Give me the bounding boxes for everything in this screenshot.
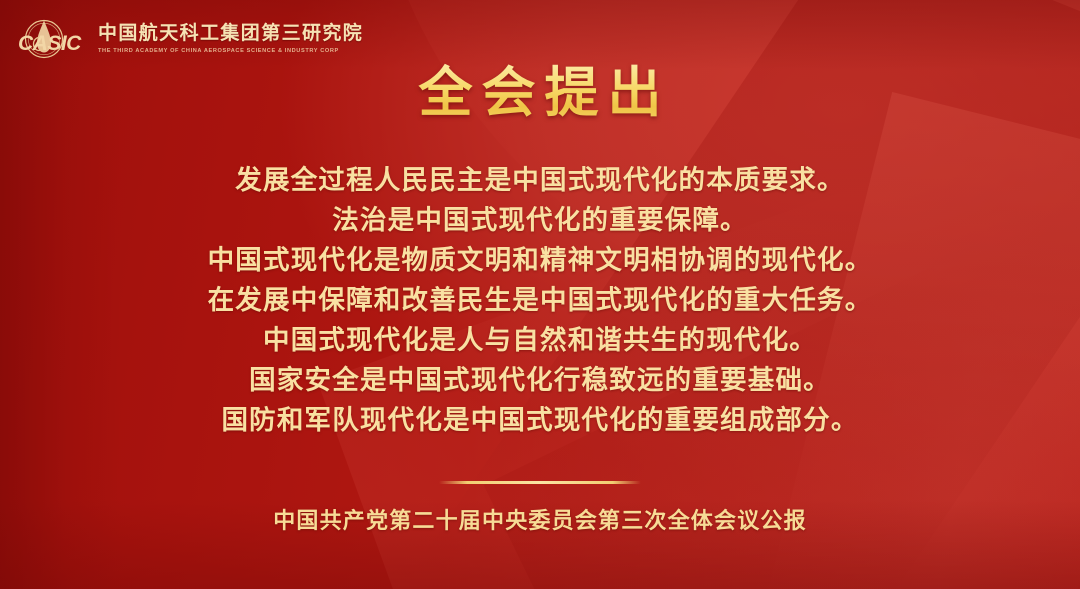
statement-line: 国家安全是中国式现代化行稳致远的重要基础。 <box>0 360 1080 400</box>
divider <box>439 481 641 484</box>
logo-name-cn: 中国航天科工集团第三研究院 <box>98 23 363 45</box>
statement-line: 中国式现代化是物质文明和精神文明相协调的现代化。 <box>0 240 1080 280</box>
statement-list: 发展全过程人民民主是中国式现代化的本质要求。 法治是中国式现代化的重要保障。 中… <box>0 160 1080 440</box>
organization-logo: CASIC 中国航天科工集团第三研究院 THE THIRD ACADEMY OF… <box>16 14 363 64</box>
casic-emblem-icon: CASIC <box>16 14 88 64</box>
slide-canvas: CASIC 中国航天科工集团第三研究院 THE THIRD ACADEMY OF… <box>0 0 1080 589</box>
source-caption: 中国共产党第二十届中央委员会第三次全体会议公报 <box>0 503 1080 535</box>
svg-text:CASIC: CASIC <box>18 32 82 55</box>
statement-line: 法治是中国式现代化的重要保障。 <box>0 200 1080 240</box>
statement-line: 中国式现代化是人与自然和谐共生的现代化。 <box>0 320 1080 360</box>
logo-name-en: THE THIRD ACADEMY OF CHINA AEROSPACE SCI… <box>98 48 363 55</box>
logo-text-block: 中国航天科工集团第三研究院 THE THIRD ACADEMY OF CHINA… <box>98 23 363 55</box>
page-title: 全会提出 <box>0 62 1080 124</box>
statement-line: 发展全过程人民民主是中国式现代化的本质要求。 <box>0 160 1080 200</box>
statement-line: 国防和军队现代化是中国式现代化的重要组成部分。 <box>0 400 1080 440</box>
statement-line: 在发展中保障和改善民生是中国式现代化的重大任务。 <box>0 280 1080 320</box>
